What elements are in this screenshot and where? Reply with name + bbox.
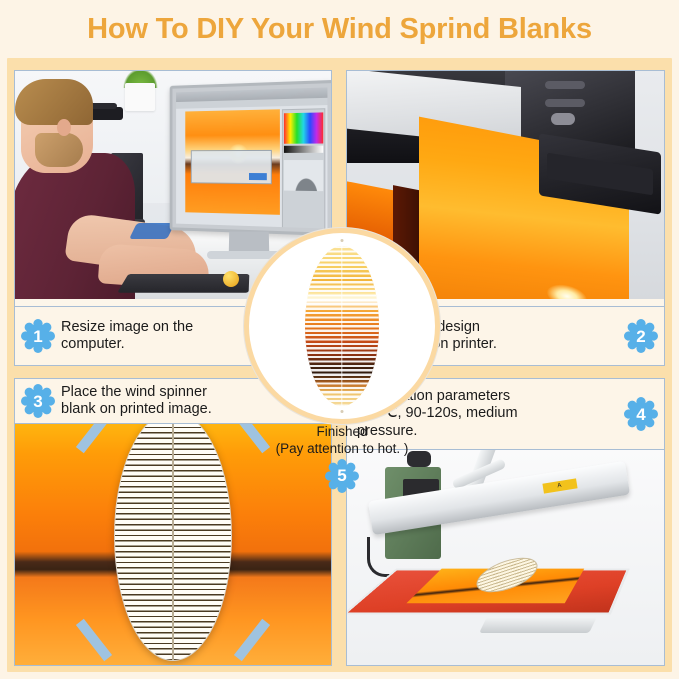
step-badge-4-number: 4 [636,406,645,423]
step-badge-3-number: 3 [33,393,42,410]
finished-wind-spinner [244,228,440,424]
infographic-root: How To DIY Your Wind Sprind Blanks [0,0,679,679]
step-badge-2-number: 2 [636,328,645,345]
page-title: How To DIY Your Wind Sprind Blanks [87,13,592,46]
caption-line: Finished [244,424,440,441]
step-badge-1: 1 [21,319,55,353]
step-badge-3: 3 [21,384,55,418]
wind-spinner-blank [114,411,232,661]
caption-line: blank on printed image. [61,401,212,417]
caption-step-1-text: Resize image on the computer. [61,319,193,353]
caption-line: Place the wind spinner [61,384,207,400]
caption-line: (Pay attention to hot. ) [244,441,440,458]
alignment-arrow-icon [76,619,112,661]
step-badge-5-number: 5 [337,467,346,484]
step-badge-1-number: 1 [33,328,42,345]
caption-step-3-text: Place the wind spinner blank on printed … [61,384,212,418]
step-badge-2: 2 [624,319,658,353]
alignment-arrow-icon [234,619,270,661]
caption-line: Resize image on the [61,319,193,335]
title-bar: How To DIY Your Wind Sprind Blanks [0,0,679,58]
caption-line: computer. [61,336,125,352]
computer-monitor [170,80,331,236]
finished-spinner-graphic [305,246,379,406]
step-badge-5: 5 [325,459,359,493]
caption-step-5: Finished (Pay attention to hot. ) 5 [244,424,440,493]
step-badge-4: 4 [624,397,658,431]
